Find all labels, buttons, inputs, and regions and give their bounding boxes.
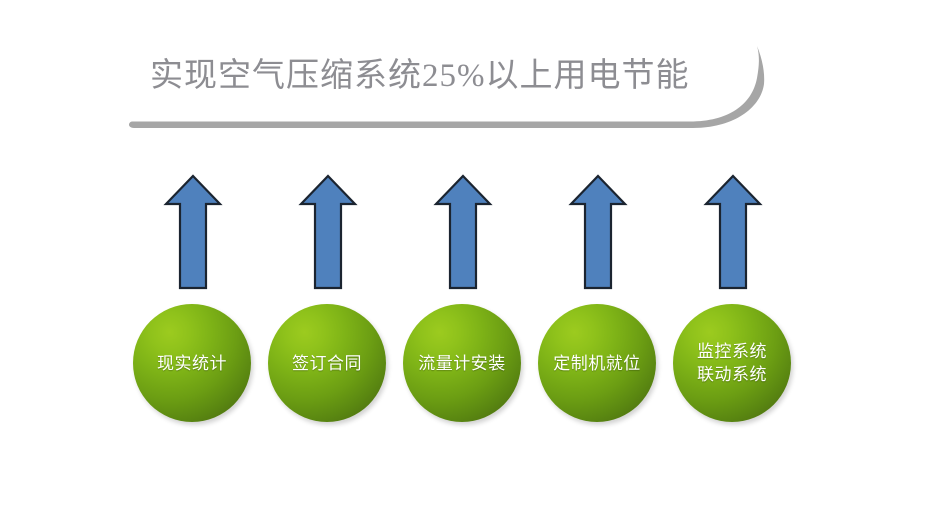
up-arrow-icon-5 [703, 172, 763, 292]
process-node-label-1: 现实统计 [153, 352, 231, 375]
process-node-4[interactable]: 定制机就位 [538, 304, 656, 422]
page-title: 实现空气压缩系统25%以上用电节能 [150, 48, 730, 104]
banner-swoosh-decoration [0, 0, 945, 160]
process-node-label-2: 签订合同 [288, 352, 366, 375]
up-arrow-icon-3 [433, 172, 493, 292]
process-node-1[interactable]: 现实统计 [133, 304, 251, 422]
up-arrow-icon-2 [298, 172, 358, 292]
process-node-3[interactable]: 流量计安装 [403, 304, 521, 422]
title-banner: 实现空气压缩系统25%以上用电节能 [0, 0, 945, 160]
up-arrow-icon-4 [568, 172, 628, 292]
process-node-label-5: 监控系统 联动系统 [693, 340, 771, 386]
process-node-label-4: 定制机就位 [549, 352, 645, 375]
process-node-label-3: 流量计安装 [414, 352, 510, 375]
up-arrow-icon-1 [163, 172, 223, 292]
process-node-5[interactable]: 监控系统 联动系统 [673, 304, 791, 422]
slide-canvas: 实现空气压缩系统25%以上用电节能 现实统计 签订合同 流量计安装 定制机就位 … [0, 0, 945, 529]
process-node-2[interactable]: 签订合同 [268, 304, 386, 422]
